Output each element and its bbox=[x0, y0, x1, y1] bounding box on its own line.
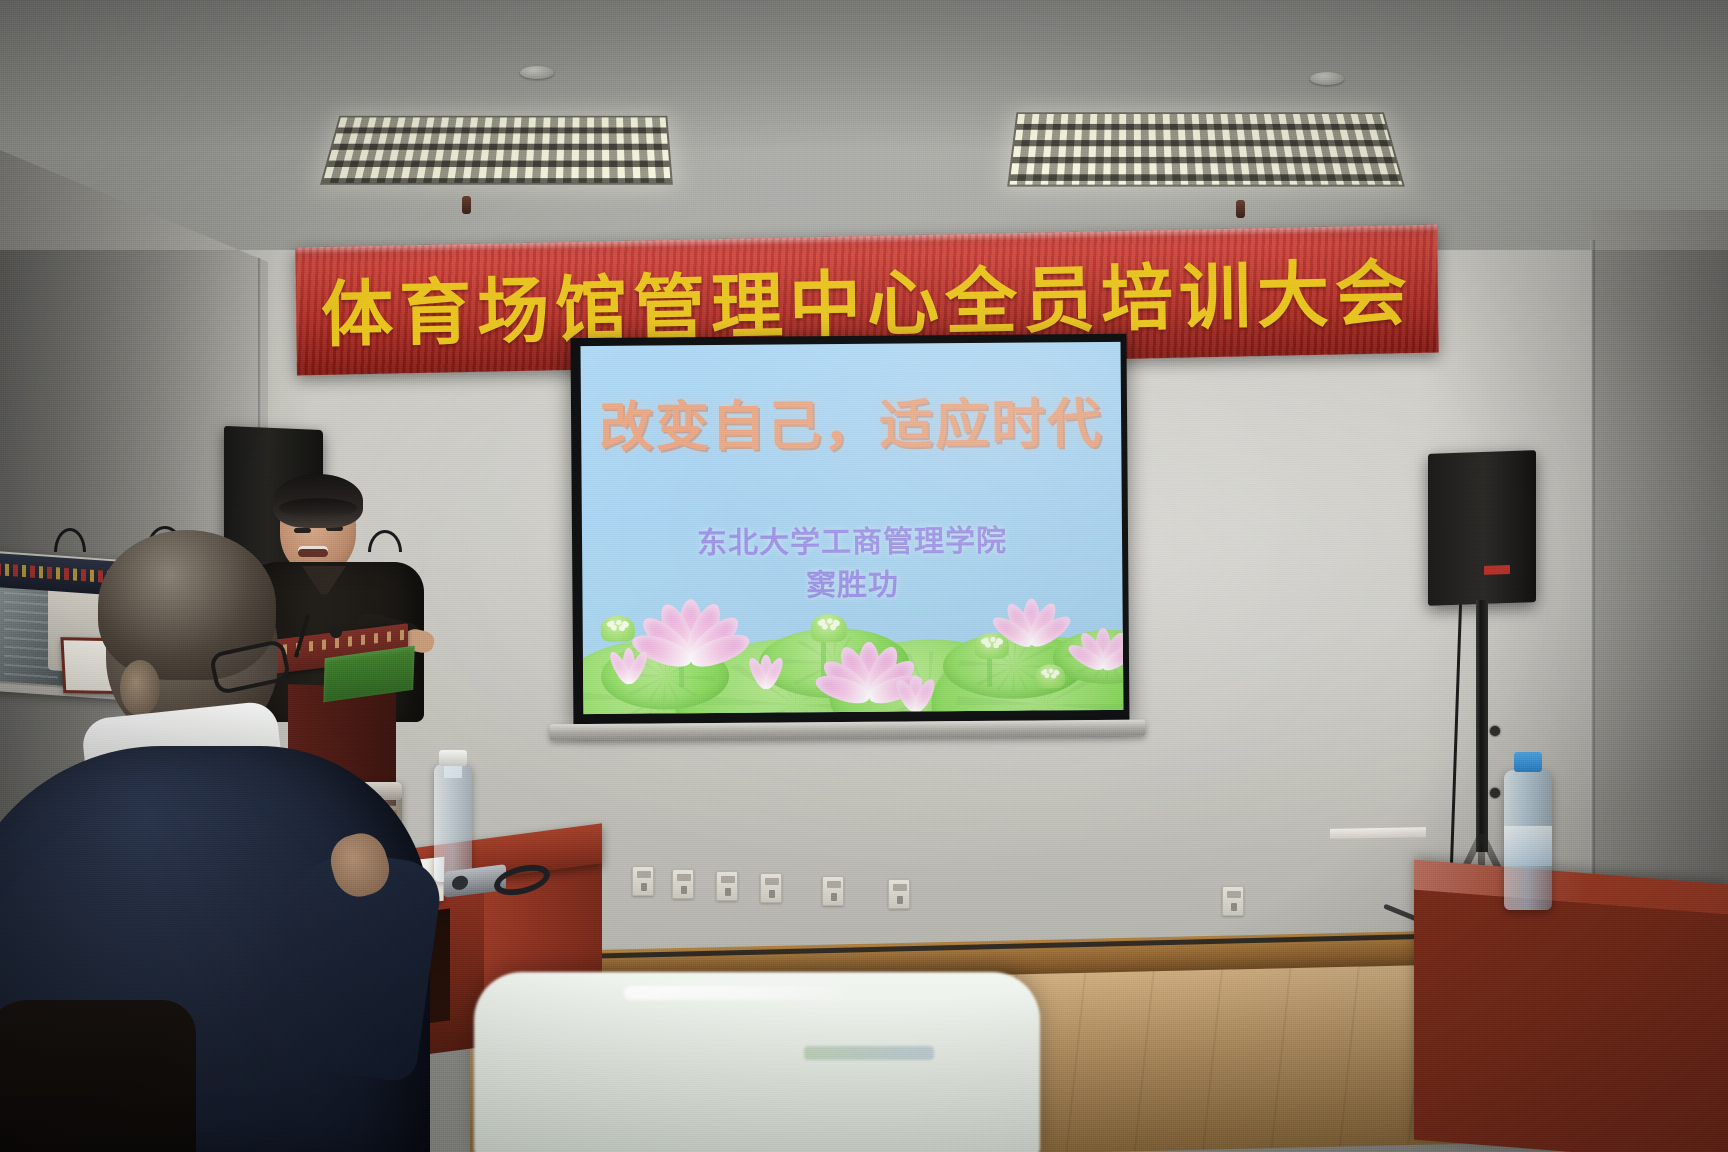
lotus-flower bbox=[889, 675, 941, 711]
screen-roller-bar bbox=[549, 720, 1145, 741]
lotus-seed-pod bbox=[811, 614, 847, 642]
slide-subtitle: 东北大学工商管理学院 窦胜功 bbox=[582, 520, 1123, 609]
audience-ear bbox=[120, 660, 160, 716]
water-bottle-far bbox=[1504, 770, 1552, 910]
lotus-flower bbox=[743, 654, 789, 688]
lotus-flower bbox=[605, 648, 653, 684]
projection-screen-assembly: 改变自己，适应时代 东北大学工商管理学院 窦胜功 bbox=[546, 328, 1145, 743]
pa-speaker-right bbox=[1428, 450, 1536, 606]
speaker-stand-pole bbox=[1476, 600, 1488, 852]
slide-title: 改变自己，适应时代 bbox=[581, 396, 1121, 457]
speaker-brand-logo bbox=[1484, 565, 1510, 575]
conference-room-photo: 体育场馆管理中心全员培训大会 bbox=[0, 0, 1728, 1152]
side-table bbox=[1414, 860, 1728, 1152]
ceiling-shading bbox=[0, 0, 1728, 258]
slide-presenter-name: 窦胜功 bbox=[582, 562, 1122, 609]
bottle-cap bbox=[1514, 752, 1542, 772]
slide-organization: 东北大学工商管理学院 bbox=[697, 524, 1007, 561]
wall-outlet bbox=[672, 869, 694, 899]
ceiling bbox=[0, 0, 1728, 258]
wall-outlet bbox=[888, 879, 910, 909]
stand-adjust-knob bbox=[1490, 726, 1500, 736]
wall-outlet bbox=[760, 873, 782, 903]
projector-highlight bbox=[624, 986, 844, 1000]
lotus-seed-pod bbox=[601, 616, 635, 642]
fluorescent-light-fixture-right bbox=[1007, 112, 1405, 186]
wall-outlet bbox=[822, 876, 844, 906]
light-louver-grille bbox=[323, 117, 671, 182]
smoke-detector-icon bbox=[520, 66, 554, 79]
projection-screen: 改变自己，适应时代 东北大学工商管理学院 窦胜功 bbox=[581, 342, 1124, 714]
lotus-flower bbox=[1075, 628, 1124, 668]
projector-label bbox=[804, 1046, 934, 1060]
stand-adjust-knob bbox=[1490, 788, 1500, 798]
wall-outlet bbox=[1222, 886, 1244, 916]
light-louver-grille bbox=[1010, 114, 1403, 185]
smoke-detector-icon bbox=[1310, 72, 1344, 85]
sprinkler-head-icon bbox=[462, 196, 471, 214]
sprinkler-head-icon bbox=[1236, 200, 1245, 218]
fluorescent-light-fixture-left bbox=[320, 116, 673, 185]
wall-trim-strip bbox=[1330, 827, 1426, 839]
wall-outlet bbox=[632, 866, 654, 896]
chair-back bbox=[0, 1000, 196, 1152]
wall-outlet bbox=[716, 871, 738, 901]
projector-foreground bbox=[474, 972, 1040, 1152]
lotus-seed-pod bbox=[1035, 664, 1065, 688]
bottle-label bbox=[1504, 826, 1552, 866]
camera-lens-icon bbox=[452, 875, 468, 891]
